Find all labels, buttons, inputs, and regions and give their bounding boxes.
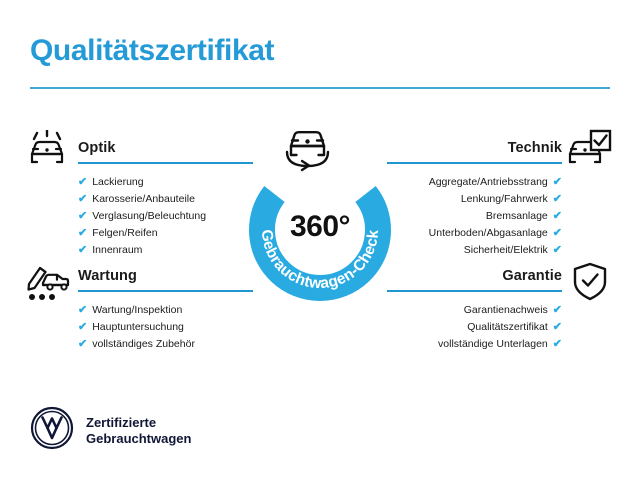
section-heading-optik: Optik bbox=[78, 140, 253, 156]
list-item: Garantienachweis✔ bbox=[387, 302, 562, 319]
shield-check-icon bbox=[570, 261, 610, 308]
list-item-label: Unterboden/Abgasanlage bbox=[429, 225, 548, 242]
list-item: Aggregate/Antriebsstrang✔ bbox=[387, 174, 562, 191]
list-item-label: Wartung/Inspektion bbox=[92, 302, 182, 319]
list-item: vollständige Unterlagen✔ bbox=[387, 336, 562, 353]
section-wartung: Wartung ✔Wartung/Inspektion ✔Hauptunters… bbox=[78, 268, 253, 353]
list-item: Qualitätszertifikat✔ bbox=[387, 319, 562, 336]
check-icon: ✔ bbox=[78, 245, 87, 256]
section-heading-technik: Technik bbox=[387, 140, 562, 156]
check-icon: ✔ bbox=[553, 228, 562, 239]
list-item-label: Felgen/Reifen bbox=[92, 225, 157, 242]
checklist-wartung: ✔Wartung/Inspektion ✔Hauptuntersuchung ✔… bbox=[78, 302, 253, 353]
car-service-pen-icon bbox=[24, 261, 72, 310]
list-item-label: Qualitätszertifikat bbox=[467, 319, 548, 336]
title-divider bbox=[30, 87, 610, 89]
check-icon: ✔ bbox=[553, 211, 562, 222]
checklist-garantie: Garantienachweis✔ Qualitätszertifikat✔ v… bbox=[387, 302, 562, 353]
check-icon: ✔ bbox=[553, 245, 562, 256]
section-divider-technik bbox=[387, 162, 562, 164]
footer-brand: Zertifizierte Gebrauchtwagen bbox=[30, 406, 191, 455]
badge-center-label: 360° bbox=[245, 210, 395, 244]
check-icon: ✔ bbox=[553, 194, 562, 205]
section-heading-wartung: Wartung bbox=[78, 268, 253, 284]
footer-brand-label: Zertifizierte Gebrauchtwagen bbox=[86, 415, 191, 447]
checklist-optik: ✔Lackierung ✔Karosserie/Anbauteile ✔Verg… bbox=[78, 174, 253, 259]
list-item-label: Karosserie/Anbauteile bbox=[92, 191, 195, 208]
section-optik: Optik ✔Lackierung ✔Karosserie/Anbauteile… bbox=[78, 140, 253, 259]
list-item: Lenkung/Fahrwerk✔ bbox=[387, 191, 562, 208]
check-icon: ✔ bbox=[78, 339, 87, 350]
list-item-label: Hauptuntersuchung bbox=[92, 319, 184, 336]
check-icon: ✔ bbox=[78, 211, 87, 222]
section-divider-garantie bbox=[387, 290, 562, 292]
list-item: Sicherheit/Elektrik✔ bbox=[387, 242, 562, 259]
check-icon: ✔ bbox=[78, 177, 87, 188]
section-heading-garantie: Garantie bbox=[387, 268, 562, 284]
check-icon: ✔ bbox=[553, 177, 562, 188]
list-item: Bremsanlage✔ bbox=[387, 208, 562, 225]
list-item: ✔Hauptuntersuchung bbox=[78, 319, 253, 336]
list-item: ✔Innenraum bbox=[78, 242, 253, 259]
section-divider-wartung bbox=[78, 290, 253, 292]
check-icon: ✔ bbox=[78, 305, 87, 316]
check-icon: ✔ bbox=[78, 322, 87, 333]
list-item: ✔Felgen/Reifen bbox=[78, 225, 253, 242]
list-item-label: Verglasung/Beleuchtung bbox=[92, 208, 206, 225]
gebrauchtwagen-check-badge: Gebrauchtwagen-Check bbox=[245, 122, 395, 312]
page-title: Qualitätszertifikat bbox=[30, 34, 274, 68]
section-divider-optik bbox=[78, 162, 253, 164]
vw-logo-icon bbox=[30, 406, 74, 455]
list-item: ✔vollständiges Zubehör bbox=[78, 336, 253, 353]
check-icon: ✔ bbox=[553, 339, 562, 350]
list-item-label: Sicherheit/Elektrik bbox=[464, 242, 548, 259]
list-item-label: Garantienachweis bbox=[464, 302, 548, 319]
list-item: ✔Verglasung/Beleuchtung bbox=[78, 208, 253, 225]
section-technik: Technik Aggregate/Antriebsstrang✔ Lenkun… bbox=[387, 140, 562, 259]
list-item-label: Aggregate/Antriebsstrang bbox=[429, 174, 548, 191]
checklist-technik: Aggregate/Antriebsstrang✔ Lenkung/Fahrwe… bbox=[387, 174, 562, 259]
section-garantie: Garantie Garantienachweis✔ Qualitätszert… bbox=[387, 268, 562, 353]
list-item: ✔Lackierung bbox=[78, 174, 253, 191]
list-item: ✔Wartung/Inspektion bbox=[78, 302, 253, 319]
list-item-label: Lenkung/Fahrwerk bbox=[461, 191, 548, 208]
car-checkbox-icon bbox=[566, 128, 612, 177]
check-icon: ✔ bbox=[553, 322, 562, 333]
list-item-label: vollständige Unterlagen bbox=[438, 336, 548, 353]
certificate-page: Qualitätszertifikat Op bbox=[0, 0, 640, 480]
list-item-label: vollständiges Zubehör bbox=[92, 336, 195, 353]
list-item: ✔Karosserie/Anbauteile bbox=[78, 191, 253, 208]
check-icon: ✔ bbox=[78, 228, 87, 239]
list-item-label: Lackierung bbox=[92, 174, 143, 191]
sparkle-car-icon bbox=[26, 130, 70, 177]
list-item: Unterboden/Abgasanlage✔ bbox=[387, 225, 562, 242]
check-icon: ✔ bbox=[553, 305, 562, 316]
list-item-label: Bremsanlage bbox=[486, 208, 548, 225]
list-item-label: Innenraum bbox=[92, 242, 142, 259]
check-icon: ✔ bbox=[78, 194, 87, 205]
